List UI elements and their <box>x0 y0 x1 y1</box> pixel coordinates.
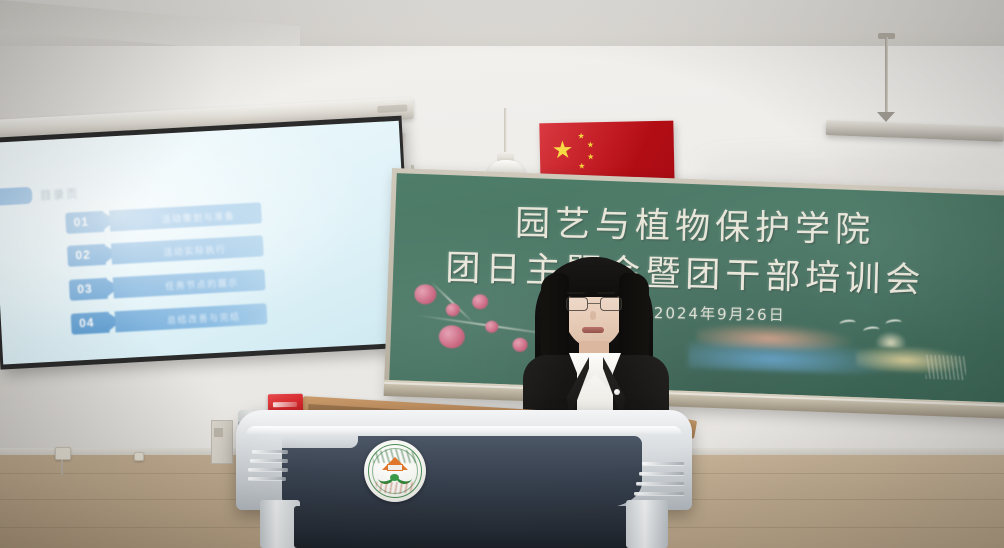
eyebrow <box>597 292 615 294</box>
chalk-bird-icon <box>885 319 902 328</box>
wall-outlet-icon <box>55 447 71 460</box>
eyebrow <box>567 292 585 294</box>
podium-base <box>294 506 634 548</box>
wall-panel <box>211 420 233 464</box>
nose <box>590 311 596 320</box>
podium-body <box>236 410 692 510</box>
screen-glare <box>0 121 411 365</box>
blackboard-frame: 园艺与植物保护学院 团日主题会暨团干部培训会 2024年9月26日 <box>384 168 1004 419</box>
roller-cap <box>377 104 407 113</box>
wall-panel-latch <box>214 428 223 437</box>
wall-outlet-icon <box>134 452 144 461</box>
projection-surface: 目录页 01 活动策划与准备 02 活动实际执行 03 任务节点的展示 <box>0 121 411 365</box>
university-emblem <box>364 440 426 502</box>
podium-vent-left <box>248 450 290 484</box>
camera-mount-rod <box>504 108 507 156</box>
blackboard: 园艺与植物保护学院 团日主题会暨团干部培训会 2024年9月26日 <box>389 173 1004 403</box>
mouth <box>582 327 604 333</box>
podium-leg-right <box>626 500 668 548</box>
multimedia-podium <box>236 396 692 548</box>
blackboard-date: 2024年9月26日 <box>654 302 786 325</box>
outlet-cable <box>61 460 63 475</box>
chalk-grass <box>926 355 967 380</box>
eyeglasses-icon <box>565 297 623 311</box>
classroom-photo-scene: 目录页 01 活动策划与准备 02 活动实际执行 03 任务节点的展示 <box>0 0 1004 548</box>
emblem-text-arc-bottom <box>376 482 414 494</box>
podium-vent-right <box>634 462 686 500</box>
projector-screen: 目录页 01 活动策划与准备 02 活动实际执行 03 任务节点的展示 <box>0 116 414 370</box>
light-cone-bracket <box>877 112 895 122</box>
jacket-badge <box>614 389 620 395</box>
light-suspension-rod <box>885 37 888 119</box>
